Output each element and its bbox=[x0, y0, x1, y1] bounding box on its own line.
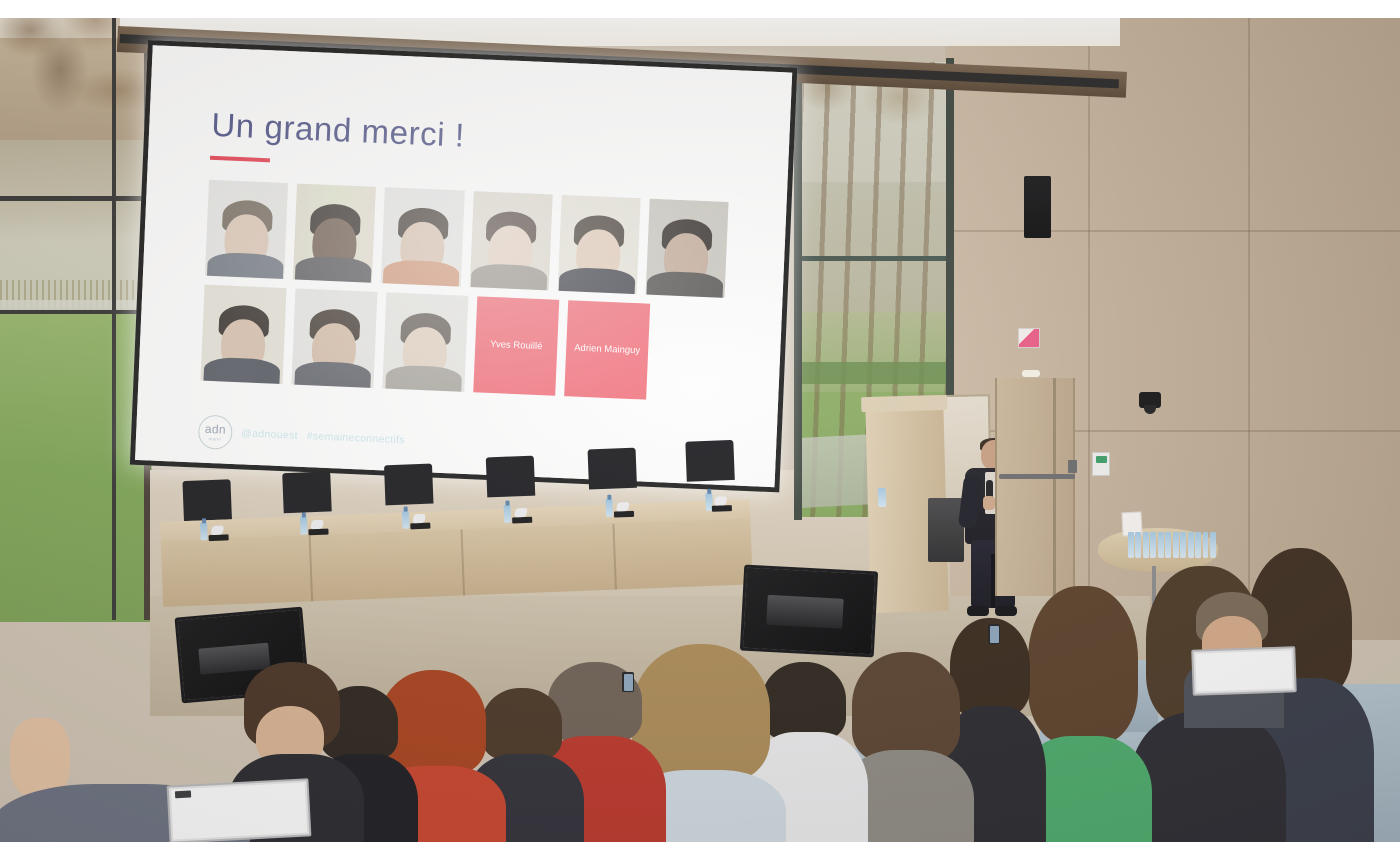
water-bottle bbox=[200, 522, 208, 540]
portrait-tile bbox=[469, 191, 552, 290]
logo-mark-text: adn bbox=[205, 423, 226, 436]
portrait-tile bbox=[381, 187, 464, 286]
letterbox-bottom bbox=[0, 842, 1400, 860]
laptop[interactable] bbox=[1191, 646, 1297, 696]
portrait-tile bbox=[205, 180, 288, 279]
smartphone[interactable] bbox=[622, 672, 634, 692]
table-microphone bbox=[209, 534, 229, 541]
water-bottle bbox=[605, 499, 613, 517]
slide-title: Un grand merci ! bbox=[211, 108, 732, 163]
table-microphone bbox=[512, 517, 532, 524]
security-camera bbox=[1139, 392, 1161, 408]
downlight bbox=[1022, 370, 1040, 377]
portrait-tile bbox=[293, 184, 376, 283]
presenter-shoe bbox=[967, 606, 989, 616]
portrait-tile bbox=[557, 195, 640, 294]
portrait-row bbox=[205, 180, 729, 298]
portrait-tile bbox=[382, 292, 468, 391]
window-mullion-horizontal bbox=[800, 256, 952, 261]
wall-poster bbox=[1018, 328, 1040, 348]
slide-footer: adn OUEST @adnouest #semaineconnectifs bbox=[198, 415, 737, 472]
adn-ouest-logo-icon: adn OUEST bbox=[198, 415, 233, 450]
presentation-slide: Un grand merci ! Yves Rouillé Adrien Ma bbox=[135, 45, 792, 487]
water-bottle bbox=[504, 505, 512, 523]
name-tile: Adrien Mainguy bbox=[564, 300, 650, 399]
presenter-shoe bbox=[995, 606, 1017, 616]
window-frame-post bbox=[794, 58, 802, 520]
wall-speaker bbox=[1024, 176, 1051, 238]
letterbox-top bbox=[0, 0, 1400, 18]
water-bottle-tray bbox=[1128, 532, 1216, 558]
portrait-tile bbox=[200, 285, 286, 384]
exit-sign bbox=[1092, 452, 1110, 476]
panel-chair bbox=[588, 448, 638, 490]
laptop-logo bbox=[175, 790, 191, 798]
portrait-tile bbox=[291, 289, 377, 388]
panel-chair bbox=[384, 464, 434, 506]
panel-chair bbox=[486, 456, 536, 498]
lawn bbox=[0, 312, 152, 622]
water-bottle bbox=[300, 516, 308, 534]
smartphone[interactable] bbox=[988, 624, 1000, 644]
panel-chair bbox=[685, 440, 735, 482]
projection-screen[interactable]: Un grand merci ! Yves Rouillé Adrien Ma bbox=[130, 40, 798, 492]
table-microphone bbox=[410, 523, 430, 530]
water-bottle bbox=[878, 488, 887, 507]
portrait-row: Yves Rouillé Adrien Mainguy bbox=[200, 285, 724, 403]
name-tile: Yves Rouillé bbox=[473, 296, 559, 395]
title-underline-accent bbox=[210, 156, 270, 163]
window-mullion-horizontal bbox=[0, 310, 152, 314]
thank-you-portrait-grid: Yves Rouillé Adrien Mainguy bbox=[200, 180, 728, 403]
laptop[interactable] bbox=[167, 778, 312, 843]
portrait-tile bbox=[645, 199, 728, 298]
light-switch-panel[interactable] bbox=[1068, 460, 1077, 473]
window-mullion-horizontal bbox=[0, 196, 152, 201]
emergency-exit-door[interactable] bbox=[995, 378, 1075, 596]
panel-chair bbox=[182, 479, 232, 521]
water-bottle bbox=[402, 510, 410, 528]
table-microphone bbox=[614, 511, 634, 518]
panel-chair bbox=[282, 471, 332, 513]
logo-sub-text: OUEST bbox=[208, 437, 221, 442]
push-bar[interactable] bbox=[999, 474, 1075, 479]
table-microphone bbox=[712, 505, 732, 512]
hedge bbox=[800, 362, 952, 384]
window-mullion-vertical bbox=[112, 0, 116, 620]
auditorium-photo: Un grand merci ! Yves Rouillé Adrien Ma bbox=[0, 0, 1400, 860]
social-handle: @adnouest bbox=[241, 427, 298, 441]
table-microphone bbox=[308, 529, 328, 536]
presenter-hand bbox=[983, 496, 995, 510]
social-hashtag: #semaineconnectifs bbox=[307, 430, 406, 446]
